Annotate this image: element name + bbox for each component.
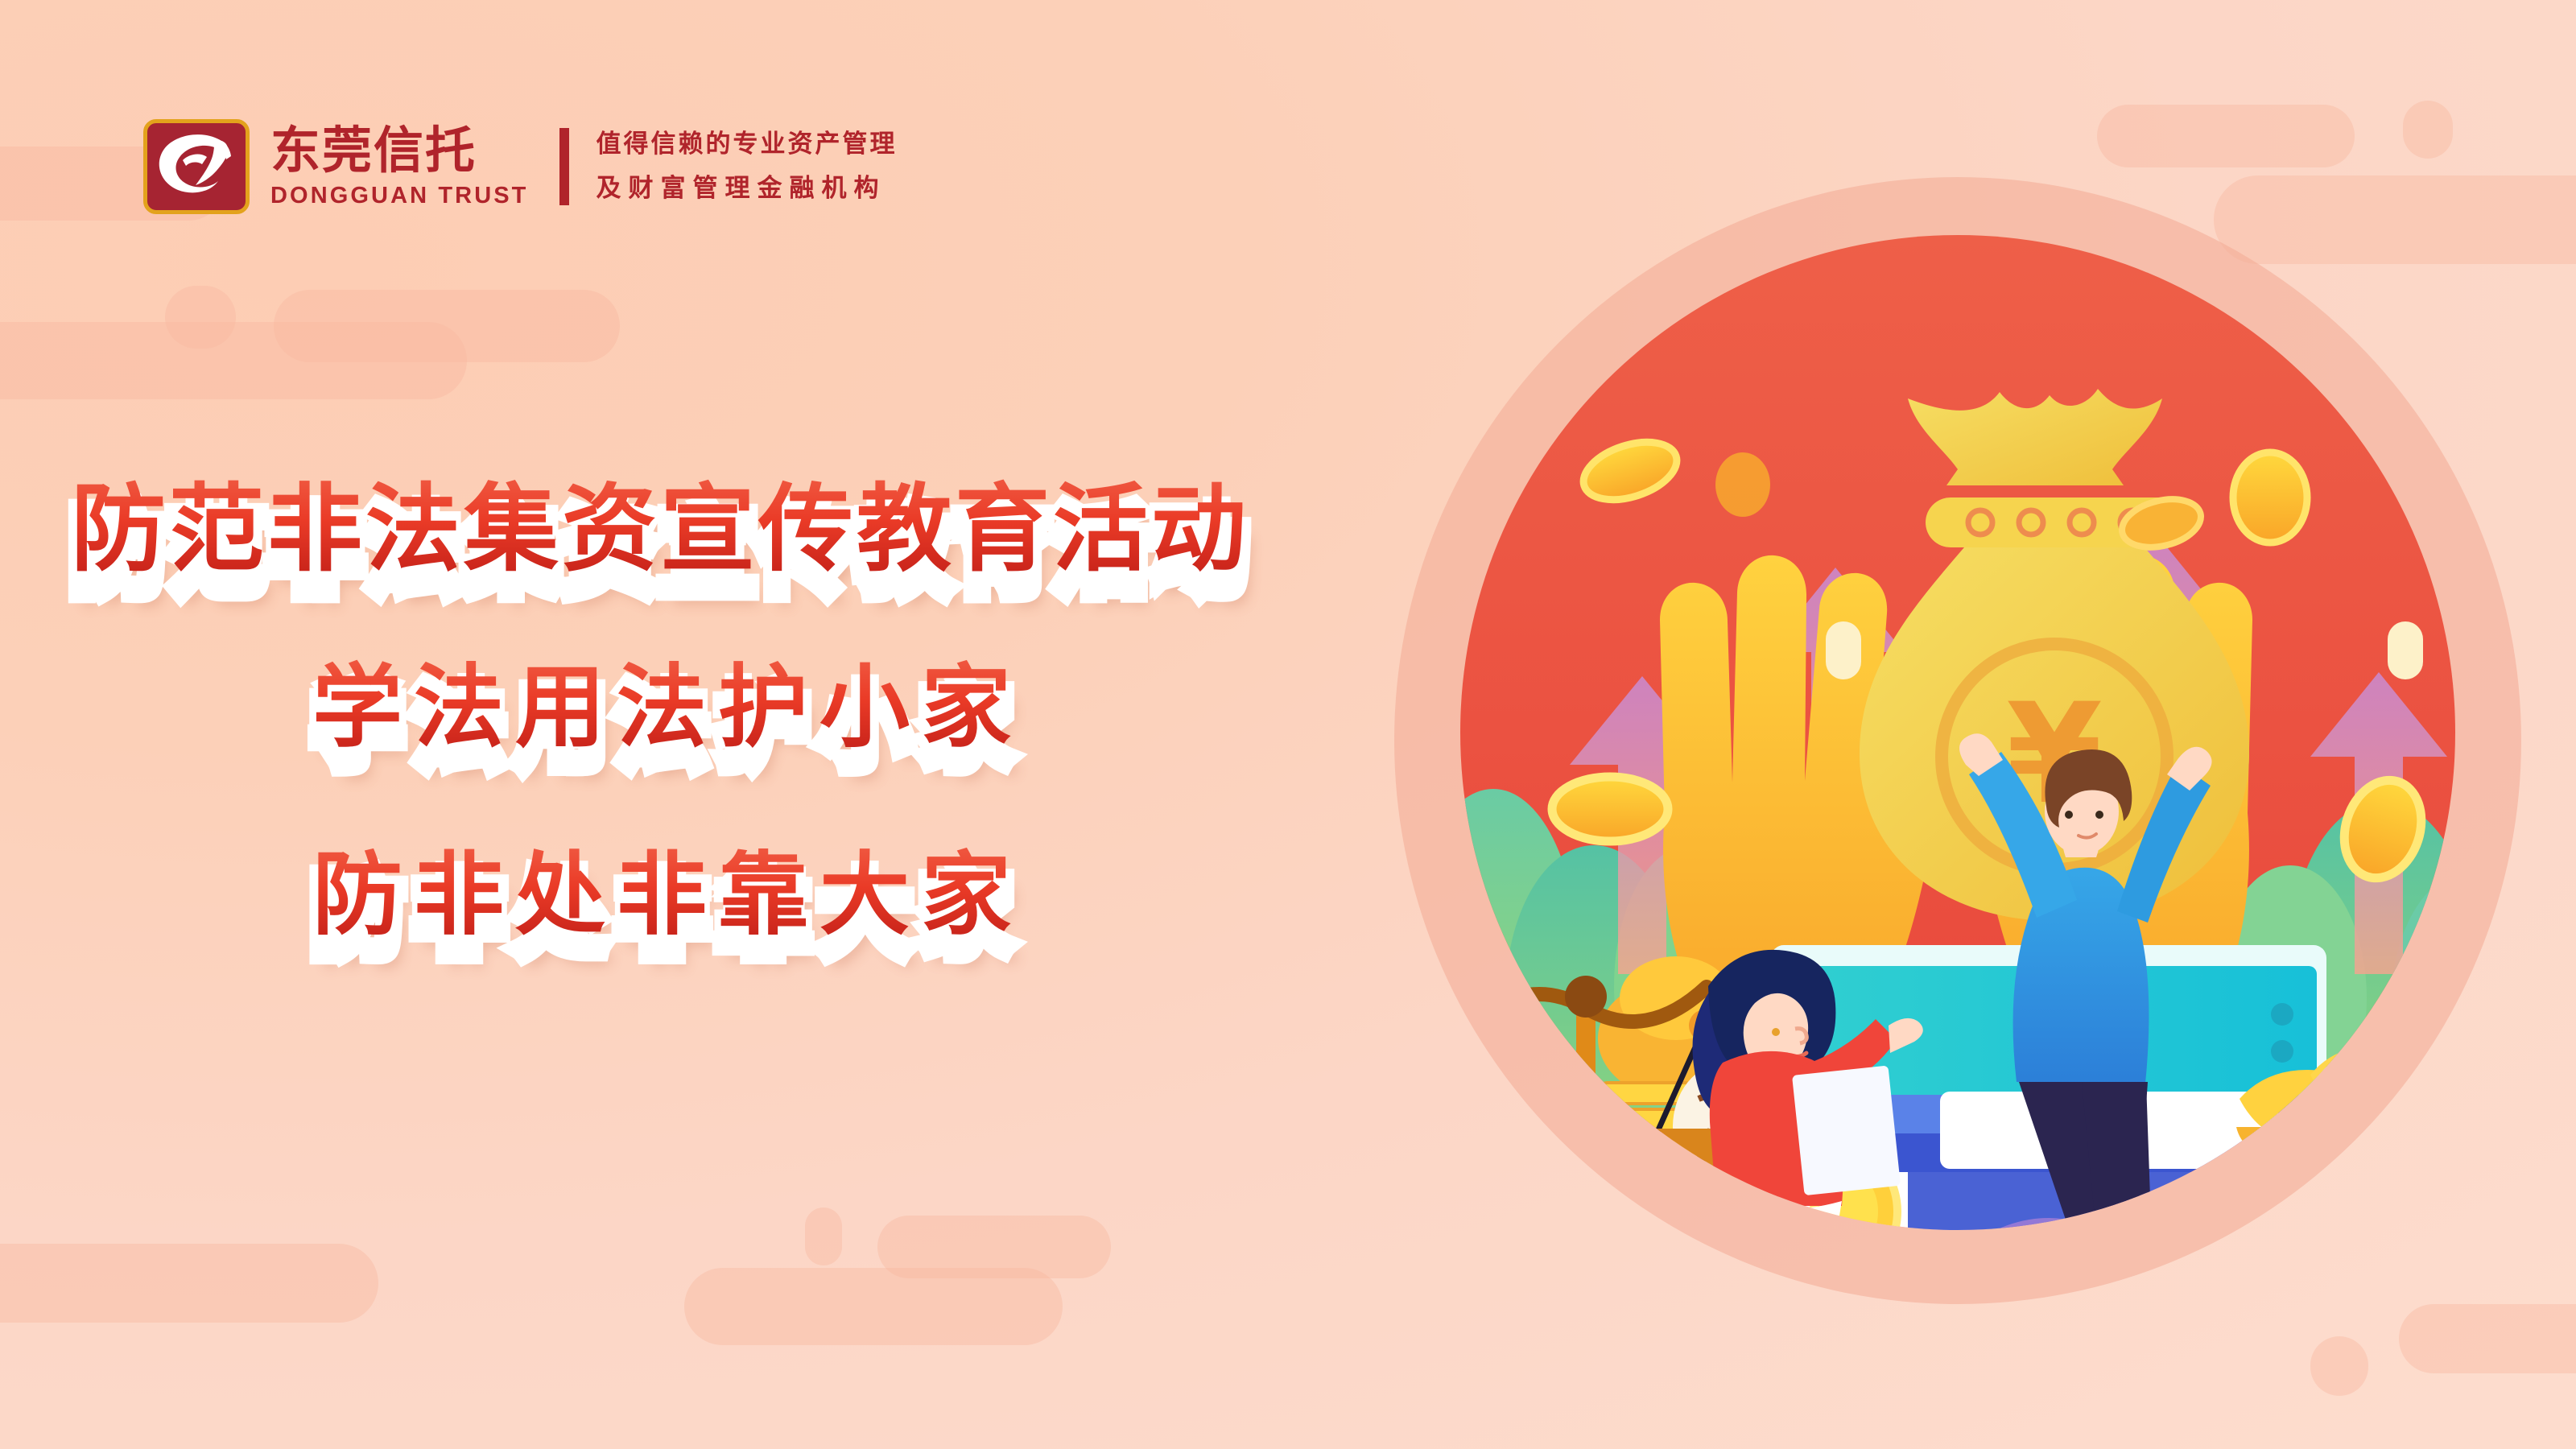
poster-canvas: 东莞信托 DONGGUAN TRUST 值得信赖的专业资产管理 及财富管理金融机… xyxy=(0,0,2576,1449)
dongguan-trust-logo-mark-icon xyxy=(143,119,250,214)
deco-pill xyxy=(165,286,236,349)
brand-tagline-line1: 值得信赖的专业资产管理 xyxy=(597,132,898,157)
brand-tagline: 值得信赖的专业资产管理 及财富管理金融机构 xyxy=(597,132,898,201)
deco-pill xyxy=(2310,1336,2368,1396)
deco-pill xyxy=(0,1244,378,1323)
logo-divider xyxy=(559,128,569,205)
brand-name-cn: 东莞信托 xyxy=(270,126,529,175)
brand-name-en: DONGGUAN TRUST xyxy=(270,184,529,208)
headline-line2: 学法用法护小家 xyxy=(312,655,1022,760)
headline-line1: 防范非法集资宣传教育活动 xyxy=(71,473,1249,584)
headline-line3: 防非处非靠大家 xyxy=(312,843,1022,947)
brand-name-block: 东莞信托 DONGGUAN TRUST xyxy=(270,126,529,208)
deco-pill xyxy=(805,1207,842,1265)
brand-logo: 东莞信托 DONGGUAN TRUST 值得信赖的专业资产管理 及财富管理金融机… xyxy=(143,119,898,214)
headline-row-3: 防非处非靠大家 防非处非靠大家 xyxy=(0,843,1352,947)
deco-pill xyxy=(684,1268,1063,1345)
anti-illegal-fundraising-illustration: ¥ xyxy=(1344,121,2568,1328)
brand-tagline-line2: 及财富管理金融机构 xyxy=(597,176,898,201)
headline-block: 防范非法集资宣传教育活动 防范非法集资宣传教育活动 学法用法护小家 学法用法护小… xyxy=(0,475,1352,947)
deco-pill xyxy=(877,1216,1111,1278)
headline-row-1: 防范非法集资宣传教育活动 防范非法集资宣传教育活动 xyxy=(0,475,1352,584)
deco-pill xyxy=(274,290,620,362)
headline-row-2: 学法用法护小家 学法用法护小家 xyxy=(0,655,1352,759)
